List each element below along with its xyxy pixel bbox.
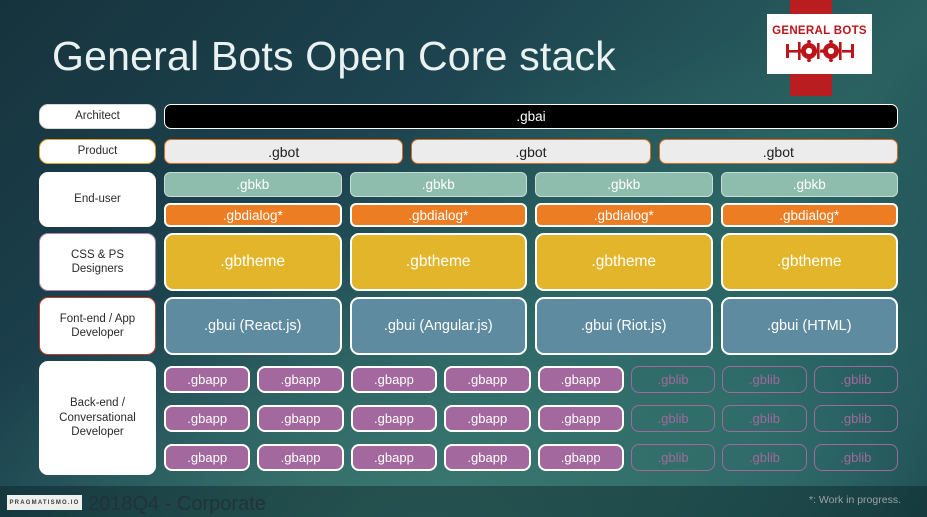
role-label-css-ps-designers: CSS & PS Designers xyxy=(39,233,156,291)
stack-cell-gbai[interactable]: .gbai xyxy=(164,104,898,129)
stack-cell-gbdialog[interactable]: .gbdialog* xyxy=(164,203,342,227)
gblib-box[interactable]: .gblib xyxy=(814,405,898,432)
role-text-line2: Conversational xyxy=(59,412,136,424)
role-label-architect: Architect xyxy=(39,104,156,129)
gblib-box[interactable]: .gblib xyxy=(814,366,898,393)
package-grid-row: .gbapp .gbapp .gbapp .gbapp .gbapp .gbli… xyxy=(164,366,898,393)
page-title: General Bots Open Core stack xyxy=(52,33,616,80)
gbapp-box[interactable]: .gbapp xyxy=(257,405,343,432)
gblib-box[interactable]: .gblib xyxy=(722,405,806,432)
stack-cell-gbtheme[interactable]: .gbtheme xyxy=(350,233,528,291)
stack-cell-gbtheme[interactable]: .gbtheme xyxy=(164,233,342,291)
role-label-frontend-app-developer: Font-end / App Developer xyxy=(39,297,156,355)
gears-logo-icon xyxy=(784,40,856,62)
role-text: Product xyxy=(78,144,118,158)
stack-cell-gbui-riot[interactable]: .gbui (Riot.js) xyxy=(535,297,713,355)
stack-row-gbdialog: .gbdialog* .gbdialog* .gbdialog* .gbdial… xyxy=(164,203,898,227)
role-text-line2: Designers xyxy=(72,263,124,275)
general-bots-logo: GENERAL BOTS xyxy=(767,14,872,74)
gbapp-box[interactable]: .gbapp xyxy=(444,366,530,393)
stack-row-gbtheme: .gbtheme .gbtheme .gbtheme .gbtheme xyxy=(164,233,898,291)
stack-cell-gbot[interactable]: .gbot xyxy=(411,139,650,164)
gbapp-box[interactable]: .gbapp xyxy=(351,444,437,471)
stack-cell-gbdialog[interactable]: .gbdialog* xyxy=(535,203,713,227)
gbapp-box[interactable]: .gbapp xyxy=(164,405,250,432)
stack-cell-gbot[interactable]: .gbot xyxy=(164,139,403,164)
stack-row-gbui: .gbui (React.js) .gbui (Angular.js) .gbu… xyxy=(164,297,898,355)
gbapp-box[interactable]: .gbapp xyxy=(351,405,437,432)
role-text: Font-end / App Developer xyxy=(60,312,135,341)
role-label-backend-conversational-developer: Back-end / Conversational Developer xyxy=(39,361,156,475)
role-text-line1: Back-end / xyxy=(70,397,125,409)
role-label-product: Product xyxy=(39,139,156,164)
gblib-box[interactable]: .gblib xyxy=(814,444,898,471)
role-text: Back-end / Conversational Developer xyxy=(59,396,136,439)
stack-cell-gbot[interactable]: .gbot xyxy=(659,139,898,164)
gblib-box[interactable]: .gblib xyxy=(722,366,806,393)
gbapp-box[interactable]: .gbapp xyxy=(538,366,624,393)
role-text-line3: Developer xyxy=(71,426,123,438)
gbapp-box[interactable]: .gbapp xyxy=(257,366,343,393)
stack-cell-gbtheme[interactable]: .gbtheme xyxy=(721,233,899,291)
role-label-end-user: End-user xyxy=(39,172,156,227)
stack-row-gbot: .gbot .gbot .gbot xyxy=(164,139,898,164)
gblib-box[interactable]: .gblib xyxy=(631,366,715,393)
stack-cell-gbui-react[interactable]: .gbui (React.js) xyxy=(164,297,342,355)
stack-row-gbkb: .gbkb .gbkb .gbkb .gbkb xyxy=(164,172,898,197)
stack-cell-gbui-angular[interactable]: .gbui (Angular.js) xyxy=(350,297,528,355)
stack-cell-gbui-html[interactable]: .gbui (HTML) xyxy=(721,297,899,355)
role-text: Architect xyxy=(75,109,120,123)
slide-canvas: General Bots Open Core stack GENERAL BOT… xyxy=(0,0,927,517)
package-grid-row: .gbapp .gbapp .gbapp .gbapp .gbapp .gbli… xyxy=(164,444,898,471)
role-text-line1: Font-end / App xyxy=(60,313,135,325)
gbapp-box[interactable]: .gbapp xyxy=(538,444,624,471)
gblib-box[interactable]: .gblib xyxy=(722,444,806,471)
role-text-line1: CSS & PS xyxy=(71,249,124,261)
gblib-box[interactable]: .gblib xyxy=(631,444,715,471)
stack-cell-gbkb[interactable]: .gbkb xyxy=(721,172,899,197)
gbapp-box[interactable]: .gbapp xyxy=(164,444,250,471)
gbapp-box[interactable]: .gbapp xyxy=(164,366,250,393)
stack-cell-gbdialog[interactable]: .gbdialog* xyxy=(350,203,528,227)
stack-cell-gbkb[interactable]: .gbkb xyxy=(350,172,528,197)
role-text: CSS & PS Designers xyxy=(71,248,124,277)
gbapp-box[interactable]: .gbapp xyxy=(351,366,437,393)
pragmatismo-logo: PRAGMATISMO.IO xyxy=(7,495,82,510)
package-grid-row: .gbapp .gbapp .gbapp .gbapp .gbapp .gbli… xyxy=(164,405,898,432)
gblib-box[interactable]: .gblib xyxy=(631,405,715,432)
stack-cell-gbkb[interactable]: .gbkb xyxy=(535,172,713,197)
gbapp-box[interactable]: .gbapp xyxy=(444,405,530,432)
gbapp-box[interactable]: .gbapp xyxy=(257,444,343,471)
stack-cell-gbtheme[interactable]: .gbtheme xyxy=(535,233,713,291)
logo-wordmark: GENERAL BOTS xyxy=(772,26,867,38)
role-text-line2: Developer xyxy=(71,327,123,339)
gbapp-box[interactable]: .gbapp xyxy=(538,405,624,432)
stack-cell-gbdialog[interactable]: .gbdialog* xyxy=(721,203,899,227)
pragmatismo-wordmark: PRAGMATISMO.IO xyxy=(9,500,79,506)
stack-row-gbai: .gbai xyxy=(164,104,898,129)
role-text: End-user xyxy=(74,192,121,206)
footer-caption: 2018Q4 - Corporate xyxy=(88,493,266,516)
stack-cell-gbkb[interactable]: .gbkb xyxy=(164,172,342,197)
gbapp-box[interactable]: .gbapp xyxy=(444,444,530,471)
